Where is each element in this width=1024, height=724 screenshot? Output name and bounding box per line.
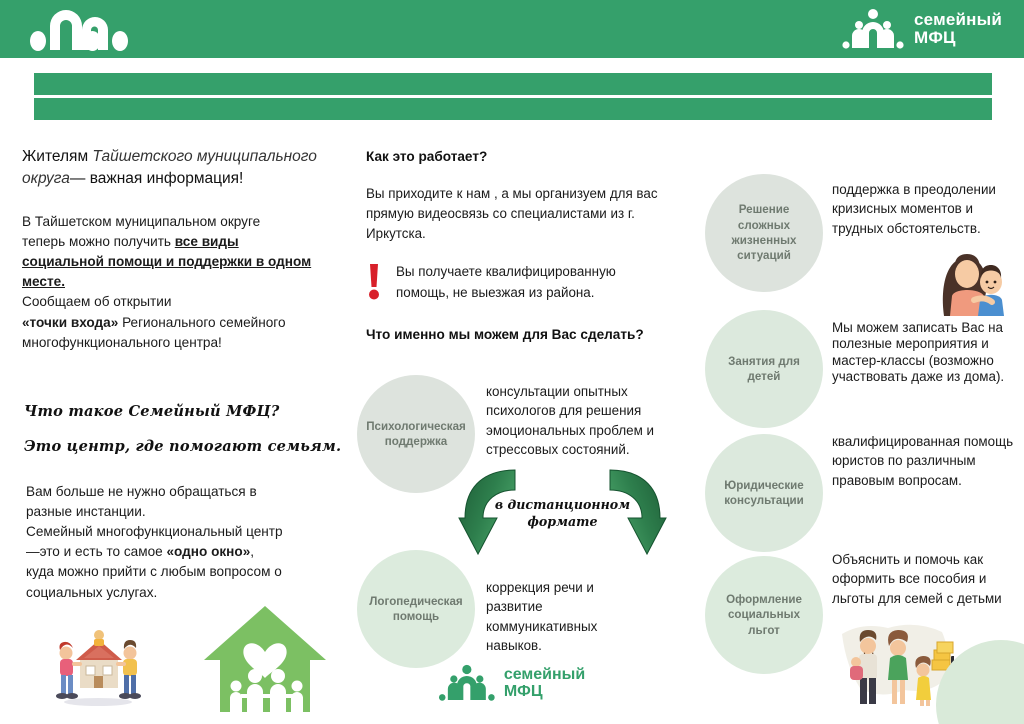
header-logo-right: семейный МФЦ	[842, 7, 1002, 51]
circle-children-activities-label: Занятия для детей	[715, 354, 813, 385]
what-is-answer: Это центр, где помогают семьям.	[24, 435, 344, 460]
circle-difficult-life-situations-label: Решение сложных жизненных ситуаций	[715, 202, 813, 263]
family-m-logo-icon	[842, 8, 904, 50]
family-m-logo-icon	[439, 664, 495, 702]
brand-line-2: МФЦ	[914, 28, 956, 47]
desc-social-benefits: Объяснить и помочь как оформить все посо…	[832, 550, 1024, 608]
services-title: Что именно мы можем для Вас сделать?	[366, 327, 686, 342]
body-line-5: куда можно прийти с любым вопросом о	[26, 564, 282, 579]
circle-speech-therapy-label: Логопедическая помощь	[367, 594, 465, 625]
body-line-4-post: ,	[250, 544, 254, 559]
desc-psychological-support: консультации опытных психологов для реше…	[486, 382, 682, 460]
circle-legal-consultations-label: Юридические консультации	[715, 478, 813, 509]
left-headline: Жителям Тайшетского муниципального округ…	[22, 146, 342, 190]
header-brand-wordmark: семейный МФЦ	[914, 11, 1002, 48]
intro-entry-point: «точки входа»	[22, 315, 118, 330]
intro-line-1: В Тайшетском муниципальном округе	[22, 214, 260, 229]
brand-line-1: семейный	[914, 10, 1002, 29]
decorative-bar-bottom	[34, 98, 992, 120]
body-line-4-pre: —это и есть то самое	[26, 544, 166, 559]
intro-line-2: теперь можно получить	[22, 234, 175, 249]
circle-social-benefits-label: Оформление социальных льгот	[715, 592, 813, 638]
body-line-2: разные инстанции.	[26, 504, 146, 519]
circle-psychological-support-label: Психологическая поддержка	[366, 419, 466, 450]
desc-difficult-life-situations: поддержка в преодолении кризисных момент…	[832, 180, 1020, 238]
circle-children-activities[interactable]: Занятия для детей	[705, 310, 823, 428]
green-house-with-family-heart-icon	[200, 600, 330, 718]
circle-speech-therapy[interactable]: Логопедическая помощь	[357, 550, 475, 668]
left-body-block: Вам больше не нужно обращаться в разные …	[26, 482, 336, 603]
cycle-label: в дистанционном формате	[470, 496, 655, 530]
desc-speech-therapy: коррекция речи и развитие коммуникативны…	[486, 578, 646, 656]
footer-brand-line-1: семейный	[504, 666, 585, 683]
circle-legal-consultations[interactable]: Юридические консультации	[705, 434, 823, 552]
intro-line-3: Сообщаем об открытии	[22, 294, 171, 309]
desc-children-activities: Мы можем записать Вас на полезные меропр…	[832, 320, 1022, 385]
footer-logo: семейный МФЦ	[439, 664, 585, 702]
decorative-bar-top	[34, 73, 992, 95]
footer-brand-line-2: МФЦ	[504, 683, 543, 700]
circle-social-benefits[interactable]: Оформление социальных льгот	[705, 556, 823, 674]
header-logo-left	[26, 6, 152, 52]
family-carrying-house-illustration	[46, 620, 150, 708]
what-is-question: Что такое Семейный МФЦ?	[24, 400, 344, 425]
how-it-works-title: Как это работает?	[366, 149, 676, 164]
red-exclamation-icon	[366, 262, 382, 305]
left-question-script: Что такое Семейный МФЦ? Это центр, где п…	[24, 400, 344, 460]
headline-suffix: — важная информация!	[70, 170, 243, 187]
body-line-6: социальных услугах.	[26, 585, 157, 600]
left-intro-block: В Тайшетском муниципальном округе теперь…	[22, 212, 322, 353]
desc-legal-consultations: квалифицированная помощь юристов по разл…	[832, 432, 1017, 490]
headline-prefix: Жителям	[22, 148, 92, 165]
mother-holding-child-illustration	[934, 248, 1010, 318]
body-line-3: Семейный многофункциональный центр	[26, 524, 283, 539]
callout-row: Вы получаете квалифицированную помощь, н…	[366, 262, 666, 305]
callout-text: Вы получаете квалифицированную помощь, н…	[396, 262, 666, 304]
how-it-works-text: Вы приходите к нам , а мы организуем для…	[366, 184, 672, 244]
body-line-1: Вам больше не нужно обращаться в	[26, 484, 257, 499]
body-one-window: «одно окно»	[166, 544, 250, 559]
poster-canvas: семейный МФЦ Жителям Тайшетского муницип…	[0, 0, 1024, 724]
circle-difficult-life-situations[interactable]: Решение сложных жизненных ситуаций	[705, 174, 823, 292]
footer-brand-wordmark: семейный МФЦ	[504, 666, 585, 701]
